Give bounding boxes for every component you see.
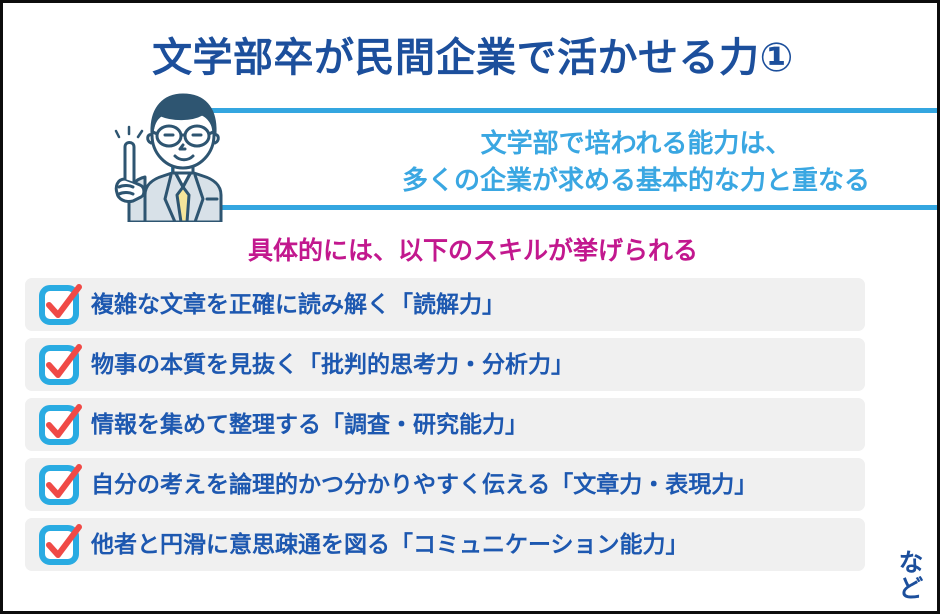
- subheading: 具体的には、以下のスキルが挙げられる: [3, 231, 940, 267]
- list-item[interactable]: 自分の考えを論理的かつ分かりやすく伝える「文章力・表現力」: [25, 458, 865, 511]
- checkbox-checked-icon[interactable]: [39, 524, 81, 566]
- list-item[interactable]: 情報を集めて整理する「調査・研究能力」: [25, 398, 865, 451]
- page-title: 文学部卒が民間企業で活かせる力①: [3, 25, 940, 83]
- slide-canvas: 文学部卒が民間企業で活かせる力① 文学部で培われる能力は、 多くの企業が求める基…: [0, 0, 940, 614]
- checkbox-checked-icon[interactable]: [39, 344, 81, 386]
- list-item[interactable]: 他者と円滑に意思疎通を図る「コミュニケーション能力」: [25, 518, 865, 571]
- checkbox-checked-icon[interactable]: [39, 464, 81, 506]
- list-item-label: 自分の考えを論理的かつ分かりやすく伝える「文章力・表現力」: [91, 470, 757, 498]
- etc-label: など: [896, 549, 921, 601]
- callout-text: 文学部で培われる能力は、 多くの企業が求める基本的な力と重なる: [306, 125, 940, 199]
- callout-box: 文学部で培われる能力は、 多くの企業が求める基本的な力と重なる: [171, 108, 940, 210]
- list-item-label: 情報を集めて整理する「調査・研究能力」: [91, 410, 528, 438]
- callout-line-1: 文学部で培われる能力は、: [306, 125, 940, 162]
- callout-section: 文学部で培われる能力は、 多くの企業が求める基本的な力と重なる: [103, 103, 863, 215]
- skill-list: 複雑な文章を正確に読み解く「読解力」 物事の本質を見抜く「批判的思考力・分析力」…: [25, 278, 865, 578]
- pointing-businessman-icon: [103, 87, 253, 222]
- list-item[interactable]: 複雑な文章を正確に読み解く「読解力」: [25, 278, 865, 331]
- callout-line-2: 多くの企業が求める基本的な力と重なる: [306, 162, 940, 199]
- list-item-label: 物事の本質を見抜く「批判的思考力・分析力」: [91, 350, 574, 378]
- checkbox-checked-icon[interactable]: [39, 404, 81, 446]
- checkbox-checked-icon[interactable]: [39, 284, 81, 326]
- list-item-label: 他者と円滑に意思疎通を図る「コミュニケーション能力」: [91, 530, 689, 558]
- list-item[interactable]: 物事の本質を見抜く「批判的思考力・分析力」: [25, 338, 865, 391]
- list-item-label: 複雑な文章を正確に読み解く「読解力」: [91, 290, 505, 318]
